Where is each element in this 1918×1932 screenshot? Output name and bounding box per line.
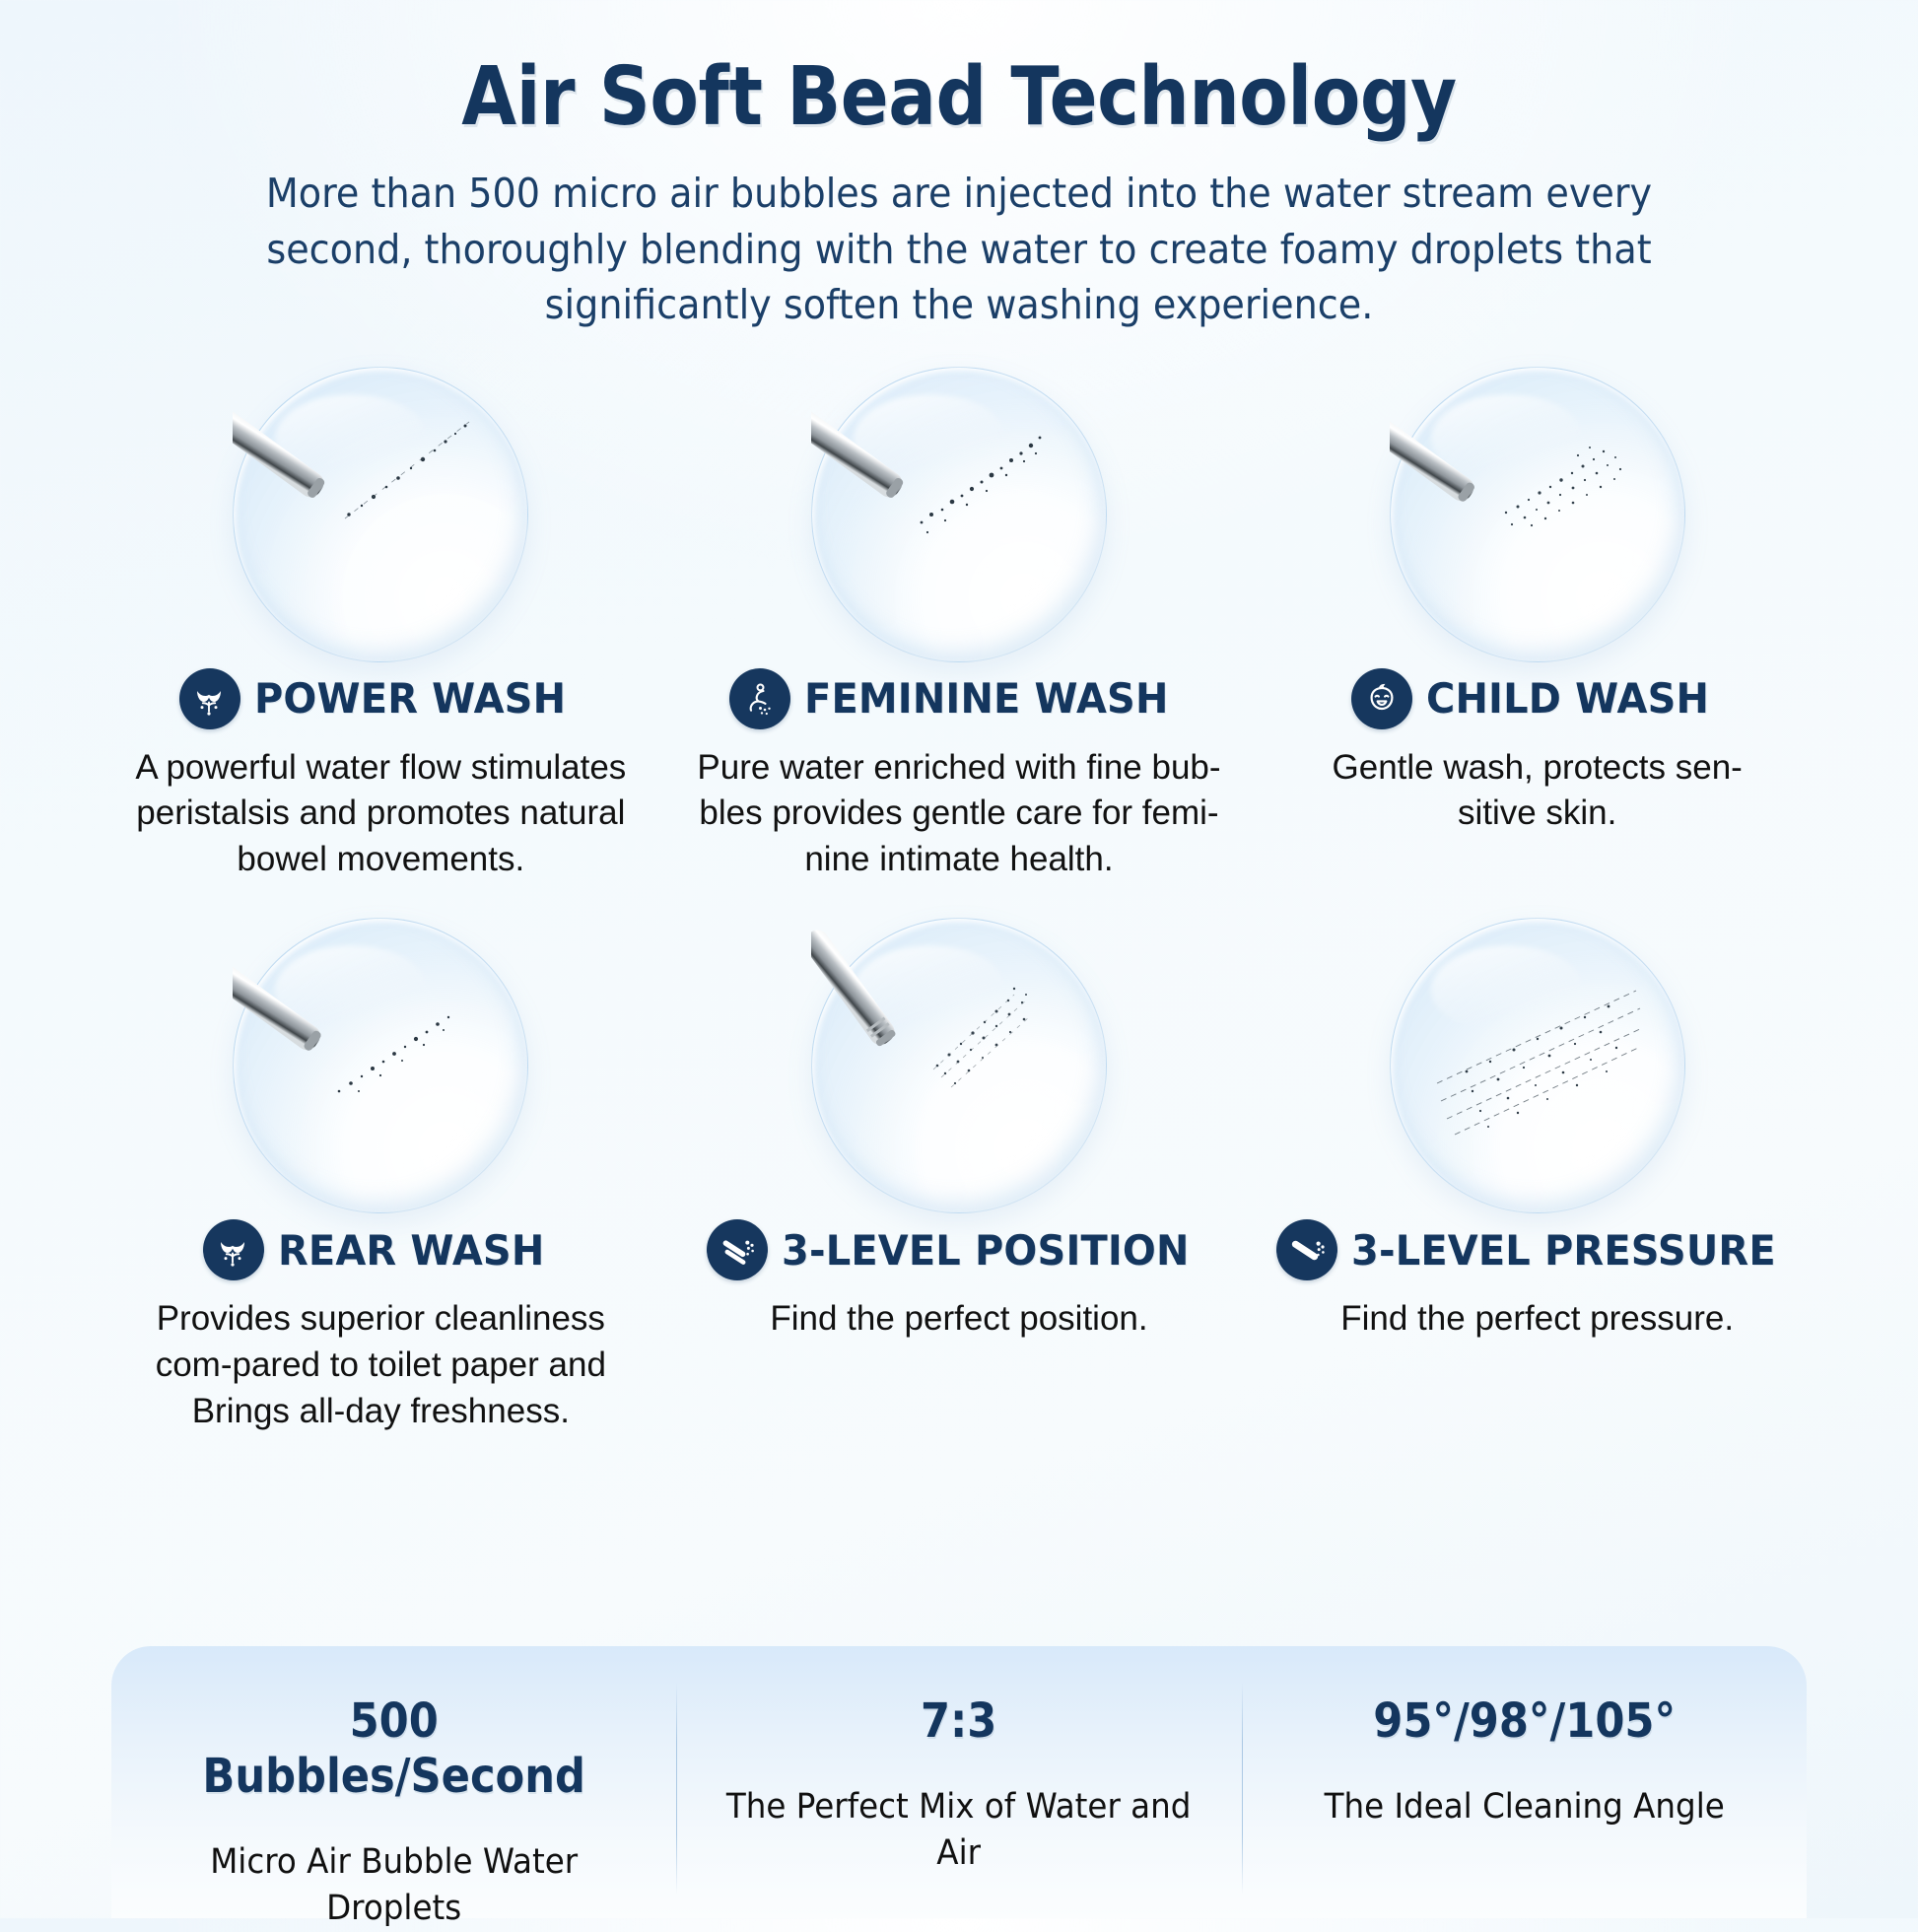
page-title: Air Soft Bead Technology [115,55,1803,140]
spray-lines-art [1390,918,1685,1213]
feature-card-child-wash: CHILD WASH Gentle wash, protects sen-sit… [1248,367,1826,883]
feature-card-three-level-position: 3-LEVEL POSITION Find the perfect positi… [670,918,1249,1434]
feature-title: POWER WASH [254,674,566,723]
seated-female-figure-icon [729,668,790,729]
rear-spray-icon [203,1219,264,1280]
feature-label-row: REAR WASH [203,1219,559,1280]
bubble-illustration-power-wash [233,367,528,662]
feature-grid: POWER WASH A powerful water flow stimula… [92,367,1826,1434]
stat-value: 500 Bubbles/Second [167,1693,622,1804]
feature-label-row: CHILD WASH [1351,668,1724,729]
feature-title: 3-LEVEL POSITION [782,1226,1190,1275]
page-subtitle: More than 500 micro air bubbles are inje… [262,166,1656,333]
infographic-page: Air Soft Bead Technology More than 500 m… [0,0,1918,1918]
feature-description: Gentle wash, protects sen-sitive skin. [1306,745,1769,837]
feature-card-feminine-wash: FEMININE WASH Pure water enriched with f… [670,367,1249,883]
nozzle-spray-art [1390,367,1685,662]
stat-water-air-ratio: 7:3 The Perfect Mix of Water and Air [676,1693,1241,1932]
stat-cleaning-angle: 95°/98°/105° The Ideal Cleaning Angle [1242,1693,1807,1932]
feature-title: REAR WASH [278,1226,544,1275]
feature-label-row: 3-LEVEL POSITION [707,1219,1210,1280]
bubble-illustration-feminine-wash [811,367,1107,662]
nozzle-spray-art [811,918,1107,1213]
feature-description: Provides superior cleanliness com-pared … [114,1296,647,1434]
feature-title: FEMININE WASH [804,674,1169,723]
bubble-illustration-position [811,918,1107,1213]
feature-description: Pure water enriched with fine bub-bles p… [693,745,1225,883]
header: Air Soft Bead Technology More than 500 m… [0,0,1918,333]
nozzle-spray-art [811,367,1107,662]
nozzle-pressure-icon [1276,1219,1337,1280]
stat-label: The Ideal Cleaning Angle [1289,1784,1759,1830]
nozzle-spray-art [233,367,528,662]
feature-description: A powerful water flow stimulates perista… [114,745,647,883]
nozzle-spray-art [233,918,528,1213]
bubble-illustration-child-wash [1390,367,1685,662]
feature-title: 3-LEVEL PRESSURE [1351,1226,1776,1275]
feature-label-row: FEMININE WASH [729,668,1188,729]
baby-face-icon [1351,668,1412,729]
stats-panel: 500 Bubbles/Second Micro Air Bubble Wate… [111,1646,1807,1918]
feature-label-row: POWER WASH [179,668,582,729]
rear-spray-icon [179,668,240,729]
feature-card-three-level-pressure: 3-LEVEL PRESSURE Find the perfect pressu… [1248,918,1826,1434]
feature-label-row: 3-LEVEL PRESSURE [1276,1219,1798,1280]
feature-description: Find the perfect pressure. [1306,1296,1769,1343]
feature-card-rear-wash: REAR WASH Provides superior cleanliness … [92,918,670,1434]
nozzle-position-icon [707,1219,768,1280]
feature-description: Find the perfect position. [727,1296,1191,1343]
stat-bubbles-per-second: 500 Bubbles/Second Micro Air Bubble Wate… [111,1693,676,1932]
stat-label: The Perfect Mix of Water and Air [723,1784,1194,1877]
bubble-illustration-pressure [1390,918,1685,1213]
bubble-illustration-rear-wash [233,918,528,1213]
stat-value: 7:3 [731,1693,1187,1749]
feature-card-power-wash: POWER WASH A powerful water flow stimula… [92,367,670,883]
stat-value: 95°/98°/105° [1296,1693,1751,1749]
feature-title: CHILD WASH [1426,674,1709,723]
